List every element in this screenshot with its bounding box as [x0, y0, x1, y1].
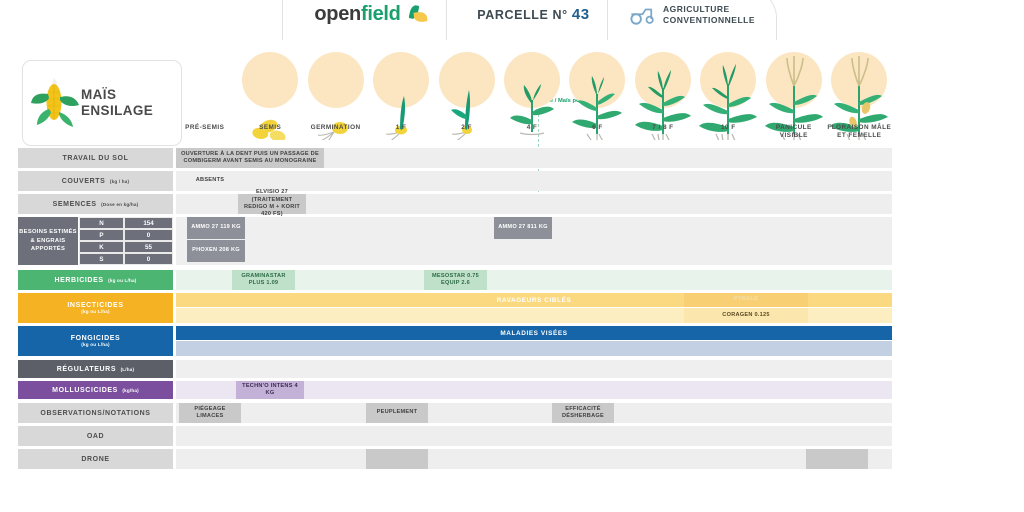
agriculture-line2: CONVENTIONNELLE — [663, 15, 755, 25]
row-insecticides: INSECTICIDES (kg ou L/ha) RAVAGEURS CIBL… — [18, 293, 892, 323]
row-track-drone — [176, 449, 892, 469]
row-label-couverts: COUVERTS (kg / ha) — [18, 171, 173, 191]
stage-label: PRÉ-SEMIS — [172, 124, 237, 132]
row-track-molluscicides: TECHN'O INTENS 4 KG — [176, 381, 892, 399]
row-molluscicides: MOLLUSCICIDES (kg/ha) TECHN'O INTENS 4 K… — [18, 381, 892, 399]
table-row: S 0 — [79, 253, 173, 265]
leaf-icon — [406, 5, 428, 25]
cell-peuplement[interactable]: PEUPLEMENT — [366, 403, 428, 423]
insecticides-products-band: CORAGEN 0.125 — [176, 308, 892, 323]
crop-card[interactable]: MAÏS ENSILAGE — [22, 60, 182, 146]
stage-label: SEMIS — [237, 124, 302, 132]
npks-value-p: 0 — [124, 229, 173, 241]
row-drone: DRONE — [18, 449, 892, 469]
npks-key-n: N — [79, 217, 124, 229]
row-herbicides: HERBICIDES (kg ou L/ha) GRAMINASTAR PLUS… — [18, 270, 892, 290]
cell-coragen[interactable]: CORAGEN 0.125 — [684, 308, 808, 323]
row-track-travail-du-sol: OUVERTURE À LA DENT PUIS UN PASSAGE DE C… — [176, 148, 892, 168]
cell-phoxen-208[interactable]: PHOXEN 208 KG — [187, 240, 245, 262]
tractor-icon — [629, 5, 656, 25]
row-oad: OAD — [18, 426, 892, 446]
tab-openfield-brand[interactable]: openfield — [282, 0, 460, 40]
stage-6[interactable]: 4 F — [499, 52, 564, 148]
stage-2[interactable]: SEMIS — [237, 52, 302, 148]
row-fongicides: FONGICIDES (kg ou L/ha) MALADIES VISÉES — [18, 326, 892, 356]
cell-mesostar-equip[interactable]: MESOSTAR 0.75 EQUIP 2.6 — [424, 270, 487, 290]
stage-label: 7 / 8 F — [630, 124, 695, 132]
stage-5[interactable]: 2 F — [434, 52, 499, 148]
table-row: P 0 — [79, 229, 173, 241]
stage-10[interactable]: PANICULE VISIBLE — [761, 52, 826, 148]
stage-7[interactable]: 6 F — [565, 52, 630, 148]
stage-1[interactable]: PRÉ-SEMIS — [172, 52, 237, 148]
row-track-herbicides: GRAMINASTAR PLUS 1.09 MESOSTAR 0.75 EQUI… — [176, 270, 892, 290]
row-label-travail-du-sol: TRAVAIL DU SOL — [18, 148, 173, 168]
parcelle-number: 43 — [572, 6, 590, 23]
stage-8[interactable]: 7 / 8 F — [630, 52, 695, 148]
top-tab-bar: openfield PARCELLE N° 43 — [0, 0, 1024, 40]
crop-name-line2: ENSILAGE — [81, 103, 153, 119]
cell-drone-1[interactable] — [366, 449, 428, 469]
row-label-semences: SEMENCES (Dose en kg/ha) — [18, 194, 173, 214]
cell-techno-intens[interactable]: TECHN'O INTENS 4 KG — [236, 381, 304, 399]
npks-value-k: 55 — [124, 241, 173, 253]
npks-key-k: K — [79, 241, 124, 253]
row-label-herbicides: HERBICIDES (kg ou L/ha) — [18, 270, 173, 290]
fongicides-sublabel: MALADIES VISÉES — [176, 326, 892, 340]
row-track-regulateurs — [176, 360, 892, 378]
tab-parcelle[interactable]: PARCELLE N° 43 — [446, 0, 621, 40]
npks-value-n: 154 — [124, 217, 173, 229]
stage-3[interactable]: GERMINATION — [303, 52, 368, 148]
stage-label: 4 F — [499, 124, 564, 132]
crop-name-line1: MAÏS — [81, 87, 153, 103]
row-track-oad — [176, 426, 892, 446]
npks-value-s: 0 — [124, 253, 173, 265]
stage-label: GERMINATION — [303, 124, 368, 132]
row-label-drone: DRONE — [18, 449, 173, 469]
row-label-observations: OBSERVATIONS/NOTATIONS — [18, 403, 173, 423]
cell-travail-du-sol[interactable]: OUVERTURE À LA DENT PUIS UN PASSAGE DE C… — [176, 148, 324, 168]
row-track-besoins-engrais: AMMO 27 119 KG PHOXEN 208 KG AMMO 27 811… — [176, 217, 892, 265]
cell-pyrale[interactable]: PYRALE — [684, 293, 808, 307]
cell-semences-elvisio[interactable]: ELVISIO 27 (TRAITEMENT REDIGO M + KORIT … — [238, 194, 306, 214]
stage-label: 2 F — [434, 124, 499, 132]
brand-open-text: open — [314, 3, 361, 25]
row-track-insecticides: RAVAGEURS CIBLÉS PYRALE CORAGEN 0.125 — [176, 293, 892, 323]
row-track-observations: PIÉGEAGE LIMACES PEUPLEMENT EFFICACITÉ D… — [176, 403, 892, 423]
stage-label: PANICULE VISIBLE — [761, 124, 826, 141]
parcelle-label: PARCELLE N° — [477, 8, 568, 22]
growth-stage-timeline: Levée / Maïs pointant PRÉ-SEMISSEMISGERM… — [172, 52, 892, 148]
row-observations: OBSERVATIONS/NOTATIONS PIÉGEAGE LIMACES … — [18, 403, 892, 423]
cell-graminastar-plus[interactable]: GRAMINASTAR PLUS 1.09 — [232, 270, 295, 290]
cell-couverts-absents[interactable]: ABSENTS — [176, 171, 244, 191]
stage-4[interactable]: 1 F — [368, 52, 433, 148]
row-besoins-engrais: BESOINS ESTIMÉS & ENGRAIS APPORTÉS N 154… — [18, 217, 892, 265]
stage-label: 6 F — [565, 124, 630, 132]
row-label-regulateurs: RÉGULATEURS (L/ha) — [18, 360, 173, 378]
insecticides-targets-band: RAVAGEURS CIBLÉS PYRALE — [176, 293, 892, 307]
cell-efficacite-desherbage[interactable]: EFFICACITÉ DÉSHERBAGE — [552, 403, 614, 423]
stage-label: 10 F — [696, 124, 761, 132]
maize-plant-icon — [29, 72, 81, 134]
row-track-fongicides: MALADIES VISÉES — [176, 326, 892, 356]
table-row: K 55 — [79, 241, 173, 253]
cell-drone-2[interactable] — [806, 449, 868, 469]
fongicides-targets-band: MALADIES VISÉES — [176, 326, 892, 340]
brand-field-text: field — [361, 3, 401, 25]
row-semences: SEMENCES (Dose en kg/ha) ELVISIO 27 (TRA… — [18, 194, 892, 214]
cell-ammo27-811[interactable]: AMMO 27 811 KG — [494, 217, 552, 239]
row-travail-du-sol: TRAVAIL DU SOL OUVERTURE À LA DENT PUIS … — [18, 148, 892, 168]
row-label-besoins-engrais: BESOINS ESTIMÉS & ENGRAIS APPORTÉS — [18, 217, 78, 265]
row-track-semences: ELVISIO 27 (TRAITEMENT REDIGO M + KORIT … — [176, 194, 892, 214]
tab-agriculture-type[interactable]: AGRICULTURE CONVENTIONNELLE — [607, 0, 777, 40]
cell-ammo27-119[interactable]: AMMO 27 119 KG — [187, 217, 245, 239]
row-label-oad: OAD — [18, 426, 173, 446]
stage-9[interactable]: 10 F — [696, 52, 761, 148]
stage-label: FLORAISON MÂLE ET FEMELLE — [827, 124, 892, 141]
fongicides-products-band — [176, 341, 892, 356]
crop-plan-grid: TRAVAIL DU SOL OUVERTURE À LA DENT PUIS … — [18, 148, 892, 472]
table-row: N 154 — [79, 217, 173, 229]
row-label-molluscicides: MOLLUSCICIDES (kg/ha) — [18, 381, 173, 399]
row-regulateurs: RÉGULATEURS (L/ha) — [18, 360, 892, 378]
npks-key-s: S — [79, 253, 124, 265]
stage-label: 1 F — [368, 124, 433, 132]
cell-piegeage-limaces[interactable]: PIÉGEAGE LIMACES — [179, 403, 241, 423]
row-label-insecticides: INSECTICIDES (kg ou L/ha) — [18, 293, 173, 323]
stage-11[interactable]: FLORAISON MÂLE ET FEMELLE — [827, 52, 892, 148]
npks-table: N 154 P 0 K 55 S 0 — [79, 217, 173, 265]
row-track-couverts: ABSENTS — [176, 171, 892, 191]
openfield-logo: openfield — [314, 3, 427, 26]
row-couverts: COUVERTS (kg / ha) ABSENTS — [18, 171, 892, 191]
row-label-fongicides: FONGICIDES (kg ou L/ha) — [18, 326, 173, 356]
agriculture-line1: AGRICULTURE — [663, 4, 755, 14]
npks-key-p: P — [79, 229, 124, 241]
